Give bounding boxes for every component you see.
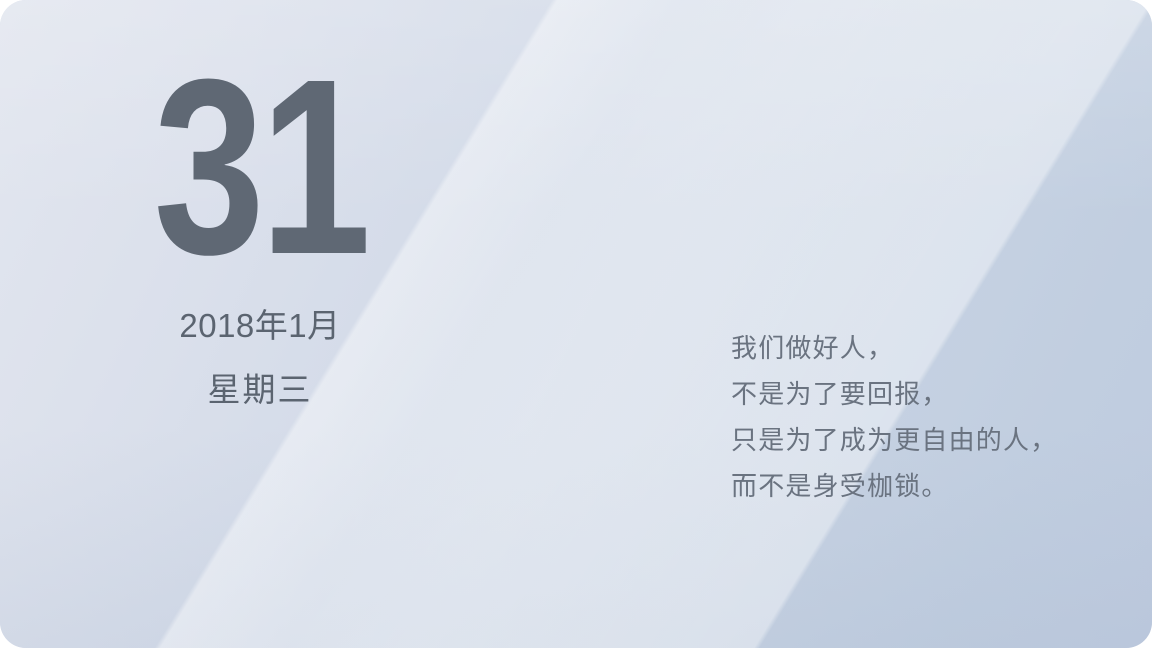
year-month-label: 2018年1月 — [60, 304, 460, 348]
quote-line: 只是为了成为更自由的人， — [731, 417, 1131, 463]
quote-line: 而不是身受枷锁。 — [731, 463, 1131, 509]
quote-block: 我们做好人， 不是为了要回报， 只是为了成为更自由的人， 而不是身受枷锁。 — [731, 325, 1131, 509]
daily-calendar-card: 31 2018年1月 星期三 我们做好人， 不是为了要回报， 只是为了成为更自由… — [0, 0, 1152, 648]
date-block: 31 2018年1月 星期三 — [60, 62, 460, 411]
quote-line: 不是为了要回报， — [731, 371, 1131, 417]
day-number: 31 — [100, 62, 420, 272]
weekday-label: 星期三 — [60, 368, 460, 412]
quote-line: 我们做好人， — [731, 325, 1131, 371]
